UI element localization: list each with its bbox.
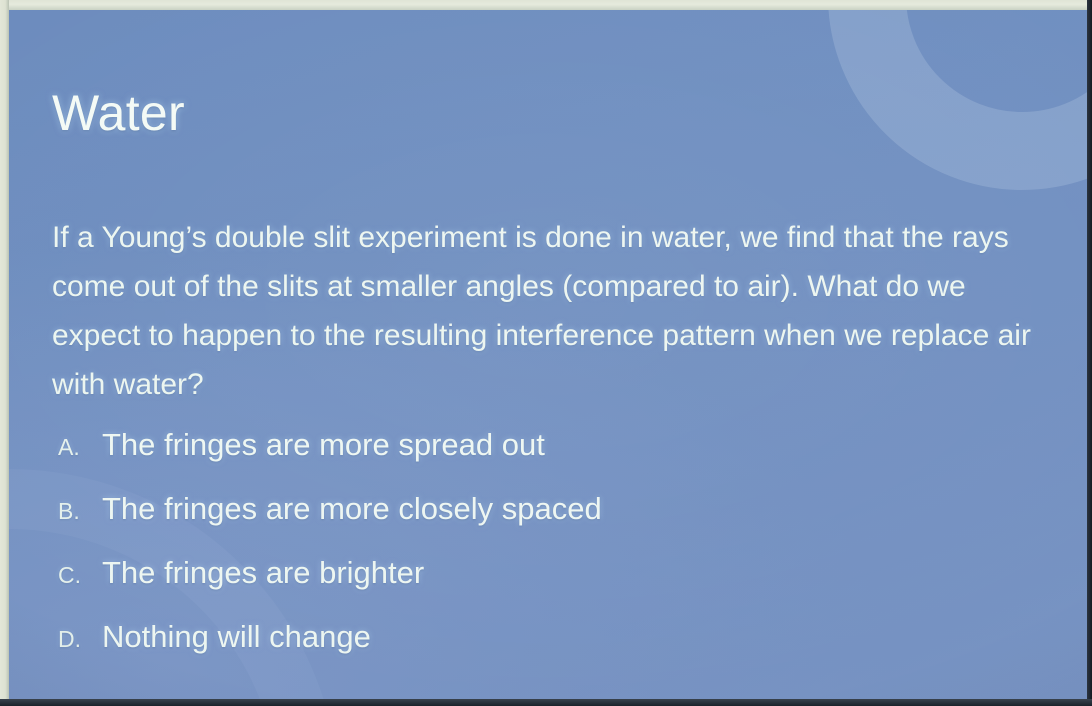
option-label: The fringes are brighter (102, 555, 424, 591)
option-label: Nothing will change (102, 619, 371, 655)
slide-title: Water (52, 84, 185, 142)
wall-strip-left (0, 0, 9, 706)
answer-option-a[interactable]: A. The fringes are more spread out (58, 427, 1038, 491)
option-letter: A. (58, 434, 102, 461)
slide-photo: Water If a Young’s double slit experimen… (0, 0, 1092, 706)
presentation-slide: Water If a Young’s double slit experimen… (9, 10, 1087, 699)
option-label: The fringes are more spread out (102, 427, 545, 463)
screen-edge-right (1087, 0, 1092, 706)
answer-options-list: A. The fringes are more spread out B. Th… (58, 427, 1038, 683)
wall-strip-top (0, 0, 1092, 10)
answer-option-c[interactable]: C. The fringes are brighter (58, 555, 1038, 619)
option-label: The fringes are more closely spaced (102, 491, 602, 527)
answer-option-d[interactable]: D. Nothing will change (58, 619, 1038, 683)
option-letter: C. (58, 562, 102, 589)
slide-content: Water If a Young’s double slit experimen… (9, 10, 1087, 699)
option-letter: D. (58, 626, 102, 653)
question-text: If a Young’s double slit experiment is d… (52, 213, 1042, 409)
screen-edge-bottom (0, 699, 1092, 706)
option-letter: B. (58, 498, 102, 525)
answer-option-b[interactable]: B. The fringes are more closely spaced (58, 491, 1038, 555)
